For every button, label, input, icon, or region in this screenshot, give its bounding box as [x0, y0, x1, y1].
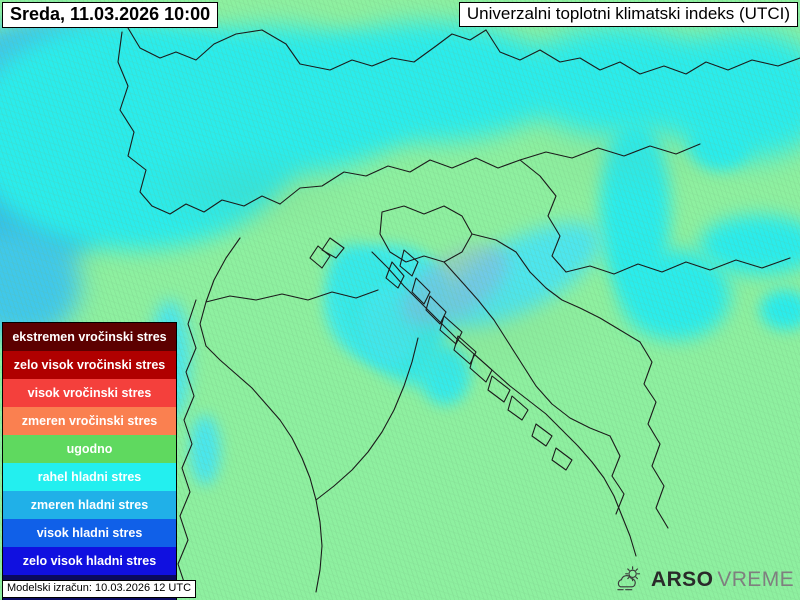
legend-label: ekstremen vročinski stres [12, 330, 166, 344]
legend-label: visok vročinski stres [28, 386, 152, 400]
utci-legend[interactable]: ekstremen vročinski streszelo visok vroč… [2, 322, 177, 600]
legend-label: ugodno [67, 442, 113, 456]
legend-row[interactable]: zelo visok vročinski stres [3, 351, 176, 379]
legend-row[interactable]: ekstremen vročinski stres [3, 323, 176, 351]
legend-row[interactable]: visok hladni stres [3, 519, 176, 547]
arso-vreme-logo[interactable]: ARSOVREME [615, 566, 794, 592]
legend-label: zelo visok vročinski stres [14, 358, 165, 372]
map-product-title: Univerzalni toplotni klimatski indeks (U… [459, 2, 798, 27]
utci-map-screenshot: Sreda, 11.03.2026 10:00 Univerzalni topl… [0, 0, 800, 600]
model-run-note: Modelski izračun: 10.03.2026 12 UTC [2, 580, 196, 598]
legend-label: visok hladni stres [37, 526, 143, 540]
legend-row[interactable]: ugodno [3, 435, 176, 463]
legend-row[interactable]: zelo visok hladni stres [3, 547, 176, 575]
logo-text-vreme: VREME [717, 568, 794, 591]
legend-label: zmeren hladni stres [31, 498, 148, 512]
logo-wordmark: ARSOVREME [651, 569, 794, 590]
legend-label: rahel hladni stres [38, 470, 142, 484]
legend-label: zmeren vročinski stres [22, 414, 158, 428]
legend-row[interactable]: zmeren vročinski stres [3, 407, 176, 435]
logo-text-arso: ARSO [651, 568, 713, 591]
legend-row[interactable]: visok vročinski stres [3, 379, 176, 407]
legend-row[interactable]: rahel hladni stres [3, 463, 176, 491]
legend-label: zelo visok hladni stres [23, 554, 156, 568]
legend-row[interactable]: zmeren hladni stres [3, 491, 176, 519]
sun-behind-cloud-icon [615, 566, 645, 592]
map-datetime-label: Sreda, 11.03.2026 10:00 [2, 2, 218, 28]
